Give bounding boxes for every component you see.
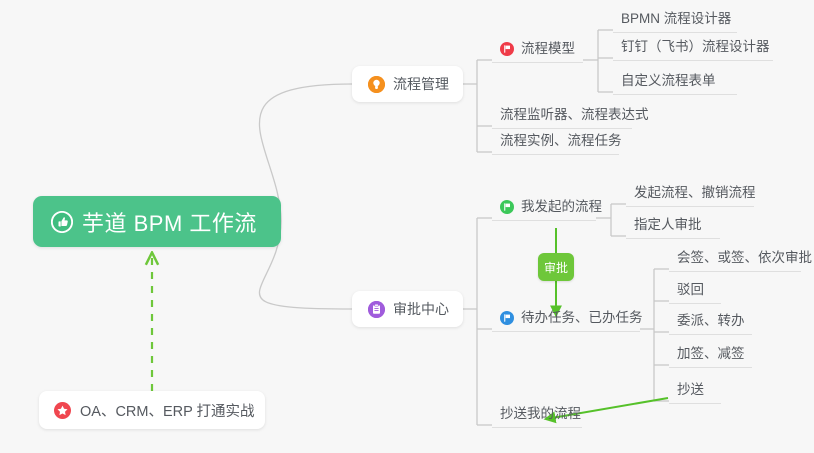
topic-process-listener[interactable]: 流程监听器、流程表达式 — [492, 104, 632, 129]
topic-cc-to-me[interactable]: 抄送我的流程 — [492, 403, 582, 428]
callout-label-integration: OA、CRM、ERP 打通实战 — [80, 400, 255, 421]
topic-label-cc: 抄送 — [677, 383, 704, 397]
topic-label-cc-to-me: 抄送我的流程 — [500, 407, 581, 421]
topic-label-launch-cancel: 发起流程、撤销流程 — [634, 186, 756, 200]
topic-launch-cancel[interactable]: 发起流程、撤销流程 — [626, 182, 754, 207]
topic-my-started-process[interactable]: 我发起的流程 — [492, 196, 596, 221]
topic-label-delegate-transfer: 委派、转办 — [677, 314, 745, 328]
topic-process-model[interactable]: 流程模型 — [492, 38, 583, 63]
star-icon — [54, 402, 71, 419]
branch-node-process-management[interactable]: 流程管理 — [352, 66, 463, 102]
topic-label-assignee-approval: 指定人审批 — [634, 218, 702, 232]
flag-icon — [500, 311, 514, 325]
topic-reject[interactable]: 驳回 — [669, 279, 721, 304]
topic-label-process-listener: 流程监听器、流程表达式 — [500, 108, 649, 122]
approval-badge-label: 审批 — [544, 259, 568, 276]
topic-label-bpmn-designer: BPMN 流程设计器 — [621, 12, 731, 26]
topic-label-process-instance: 流程实例、流程任务 — [500, 134, 622, 148]
topic-delegate-transfer[interactable]: 委派、转办 — [669, 310, 752, 335]
topic-custom-form[interactable]: 自定义流程表单 — [613, 70, 737, 95]
branch-node-approval-center[interactable]: 审批中心 — [352, 291, 463, 327]
lightbulb-pin-icon — [368, 76, 385, 93]
root-label: 芋道 BPM 工作流 — [82, 206, 257, 238]
mindmap-canvas: 芋道 BPM 工作流 流程管理 审批中心 — [0, 0, 814, 453]
branch-label-approval-center: 审批中心 — [393, 299, 449, 319]
topic-bpmn-designer[interactable]: BPMN 流程设计器 — [613, 8, 737, 33]
clipboard-icon — [368, 301, 385, 318]
topic-label-reject: 驳回 — [677, 283, 704, 297]
topic-label-dingtalk-designer: 钉钉（飞书）流程设计器 — [621, 40, 770, 54]
approval-badge[interactable]: 审批 — [538, 253, 574, 281]
thumbs-up-icon — [51, 211, 73, 233]
topic-label-add-remove-sign: 加签、减签 — [677, 347, 745, 361]
branch-label-process-management: 流程管理 — [393, 74, 449, 94]
root-node[interactable]: 芋道 BPM 工作流 — [33, 196, 281, 247]
topic-label-custom-form: 自定义流程表单 — [621, 74, 716, 88]
topic-countersign[interactable]: 会签、或签、依次审批 — [669, 247, 801, 272]
flag-icon — [500, 42, 514, 56]
topic-label-todo-done-tasks: 待办任务、已办任务 — [521, 311, 643, 325]
topic-assignee-approval[interactable]: 指定人审批 — [626, 214, 720, 239]
topic-label-my-started-process: 我发起的流程 — [521, 200, 602, 214]
callout-node-integration[interactable]: OA、CRM、ERP 打通实战 — [39, 391, 265, 429]
topic-todo-done-tasks[interactable]: 待办任务、已办任务 — [492, 307, 640, 332]
topic-process-instance[interactable]: 流程实例、流程任务 — [492, 130, 619, 155]
topic-cc[interactable]: 抄送 — [669, 379, 721, 404]
topic-add-remove-sign[interactable]: 加签、减签 — [669, 343, 752, 368]
topic-label-countersign: 会签、或签、依次审批 — [677, 251, 812, 265]
topic-dingtalk-designer[interactable]: 钉钉（飞书）流程设计器 — [613, 36, 773, 61]
flag-icon — [500, 200, 514, 214]
topic-label-process-model: 流程模型 — [521, 42, 575, 56]
